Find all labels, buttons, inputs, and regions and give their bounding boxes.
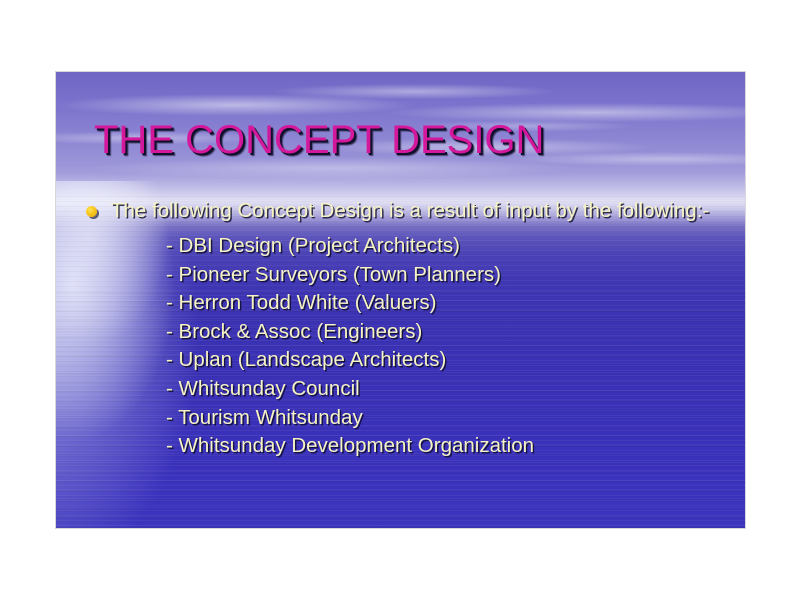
bullet-item-label: The following Concept Design is a result…: [111, 198, 736, 224]
slide-body: The following Concept Design is a result…: [86, 198, 736, 461]
list-item: - Herron Todd White (Valuers): [86, 289, 736, 318]
list-item: - Whitsunday Development Organization: [86, 432, 736, 461]
bullet-list-item: The following Concept Design is a result…: [86, 198, 736, 224]
page-canvas: THE CONCEPT DESIGN The following Concept…: [0, 0, 800, 600]
slide-title: THE CONCEPT DESIGN: [94, 118, 544, 162]
list-item: - Tourism Whitsunday: [86, 404, 736, 433]
presentation-slide: THE CONCEPT DESIGN The following Concept…: [56, 72, 745, 528]
list-item: - Uplan (Landscape Architects): [86, 346, 736, 375]
list-item: - Brock & Assoc (Engineers): [86, 318, 736, 347]
list-item: - DBI Design (Project Architects): [86, 232, 736, 261]
bullet-dot-icon: [86, 206, 97, 217]
sub-item-list: - DBI Design (Project Architects) - Pion…: [86, 232, 736, 461]
slide-content: THE CONCEPT DESIGN The following Concept…: [56, 72, 745, 528]
list-item: - Whitsunday Council: [86, 375, 736, 404]
list-item: - Pioneer Surveyors (Town Planners): [86, 261, 736, 290]
